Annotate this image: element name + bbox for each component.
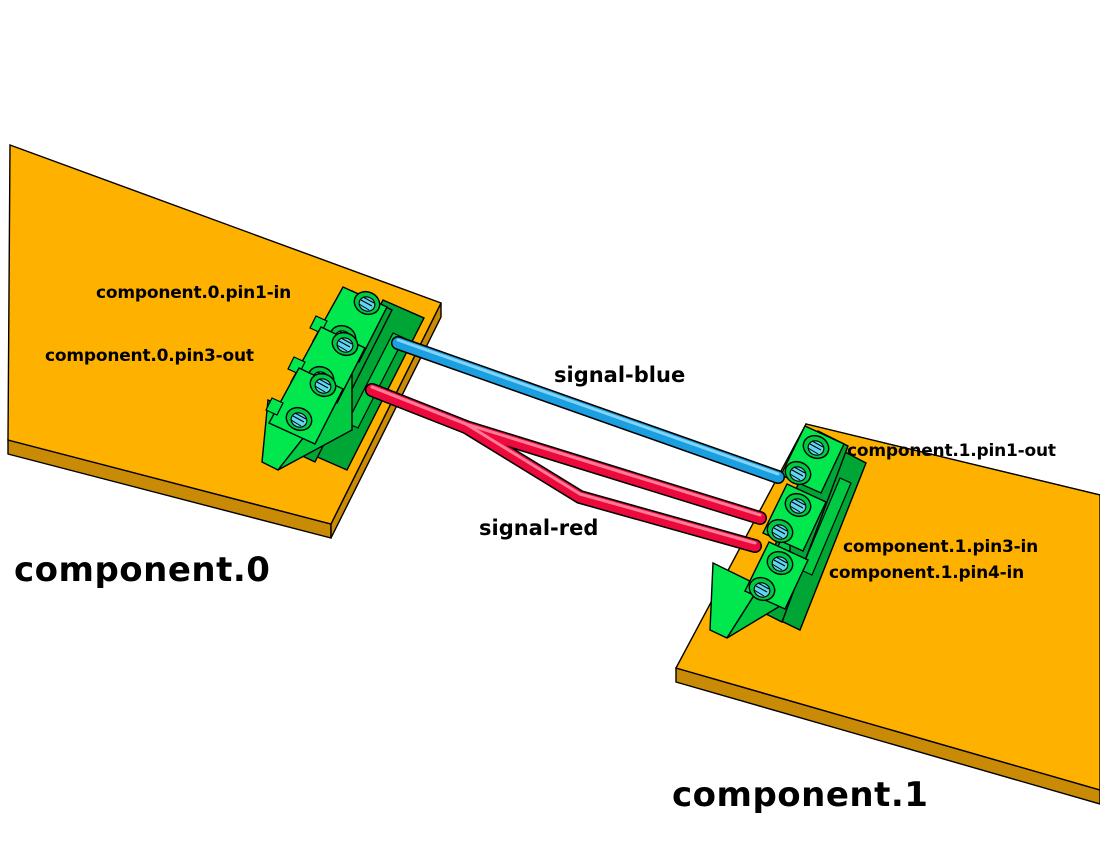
pin-label-component-0-pin3-out: component.0.pin3-out — [45, 348, 254, 365]
diagram-canvas: component.0.pin1-in component.0.pin3-out… — [0, 0, 1100, 850]
signal-blue-wire[interactable] — [398, 340, 778, 477]
signal-blue-highlight — [398, 340, 778, 474]
pin-label-component-0-pin1-in: component.0.pin1-in — [96, 285, 291, 302]
pin-label-component-1-pin4-in: component.1.pin4-in — [829, 565, 1024, 582]
pin-label-component-1-pin3-in: component.1.pin3-in — [843, 539, 1038, 556]
wiring-diagram-svg — [0, 0, 1100, 850]
board-label-component-0: component.0 — [14, 553, 270, 587]
pin-label-component-1-pin1-out: component.1.pin1-out — [847, 443, 1056, 460]
signal-label-blue: signal-blue — [554, 365, 685, 386]
signal-label-red: signal-red — [479, 518, 598, 539]
board-label-component-1: component.1 — [672, 778, 928, 812]
